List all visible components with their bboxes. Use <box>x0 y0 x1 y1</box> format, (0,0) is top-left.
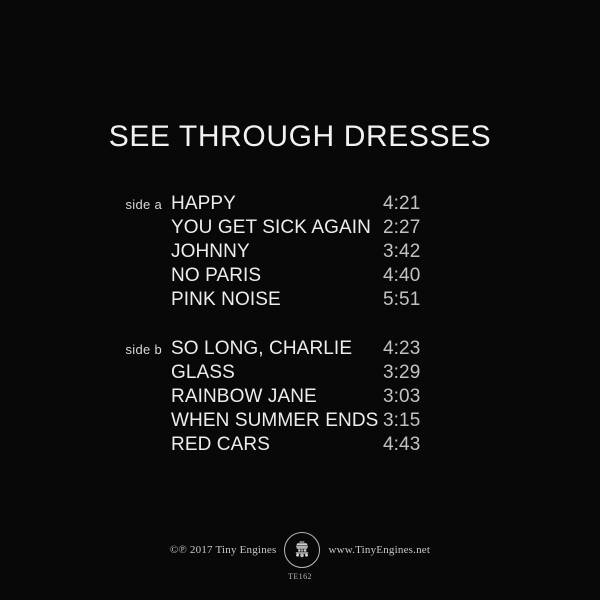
track-row: GLASS 3:29 <box>0 361 600 385</box>
album-back-cover: SEE THROUGH DRESSES side a HAPPY 4:21 YO… <box>0 0 600 600</box>
side-b-track-list: SO LONG, CHARLIE 4:23 GLASS 3:29 RAINBOW… <box>0 337 600 457</box>
track-duration: 3:42 <box>383 240 420 264</box>
track-title: HAPPY <box>171 192 236 216</box>
track-duration: 4:23 <box>383 337 420 361</box>
track-title: WHEN SUMMER ENDS <box>171 409 378 433</box>
track-duration: 4:43 <box>383 433 420 457</box>
track-title: RAINBOW JANE <box>171 385 317 409</box>
track-duration: 3:03 <box>383 385 420 409</box>
tiny-engines-circular-emblem-icon <box>284 532 320 568</box>
track-title: NO PARIS <box>171 264 261 288</box>
track-duration: 4:21 <box>383 192 420 216</box>
track-duration: 4:40 <box>383 264 420 288</box>
track-row: YOU GET SICK AGAIN 2:27 <box>0 216 600 240</box>
track-row: NO PARIS 4:40 <box>0 264 600 288</box>
track-row: RED CARS 4:43 <box>0 433 600 457</box>
side-a-track-list: HAPPY 4:21 YOU GET SICK AGAIN 2:27 JOHNN… <box>0 192 600 312</box>
track-title: SO LONG, CHARLIE <box>171 337 352 361</box>
track-duration: 3:15 <box>383 409 420 433</box>
side-block-a: side a HAPPY 4:21 YOU GET SICK AGAIN 2:2… <box>0 192 600 312</box>
track-row: JOHNNY 3:42 <box>0 240 600 264</box>
track-title: YOU GET SICK AGAIN <box>171 216 371 240</box>
track-title: PINK NOISE <box>171 288 281 312</box>
side-block-b: side b SO LONG, CHARLIE 4:23 GLASS 3:29 … <box>0 337 600 457</box>
copyright-text: ©℗ 2017 Tiny Engines <box>170 544 277 557</box>
track-row: SO LONG, CHARLIE 4:23 <box>0 337 600 361</box>
track-title: GLASS <box>171 361 235 385</box>
track-row: HAPPY 4:21 <box>0 192 600 216</box>
tracklist: side a HAPPY 4:21 YOU GET SICK AGAIN 2:2… <box>0 192 600 457</box>
catalog-number: TE162 <box>288 572 312 582</box>
album-title: SEE THROUGH DRESSES <box>0 120 600 154</box>
track-row: WHEN SUMMER ENDS 3:15 <box>0 409 600 433</box>
footer-row: ©℗ 2017 Tiny Engines <box>170 532 430 568</box>
track-duration: 5:51 <box>383 288 420 312</box>
footer-imprint: ©℗ 2017 Tiny Engines <box>0 532 600 582</box>
track-row: PINK NOISE 5:51 <box>0 288 600 312</box>
track-duration: 2:27 <box>383 216 420 240</box>
track-row: RAINBOW JANE 3:03 <box>0 385 600 409</box>
track-duration: 3:29 <box>383 361 420 385</box>
track-title: JOHNNY <box>171 240 250 264</box>
track-title: RED CARS <box>171 433 270 457</box>
website-text: www.TinyEngines.net <box>328 544 430 557</box>
